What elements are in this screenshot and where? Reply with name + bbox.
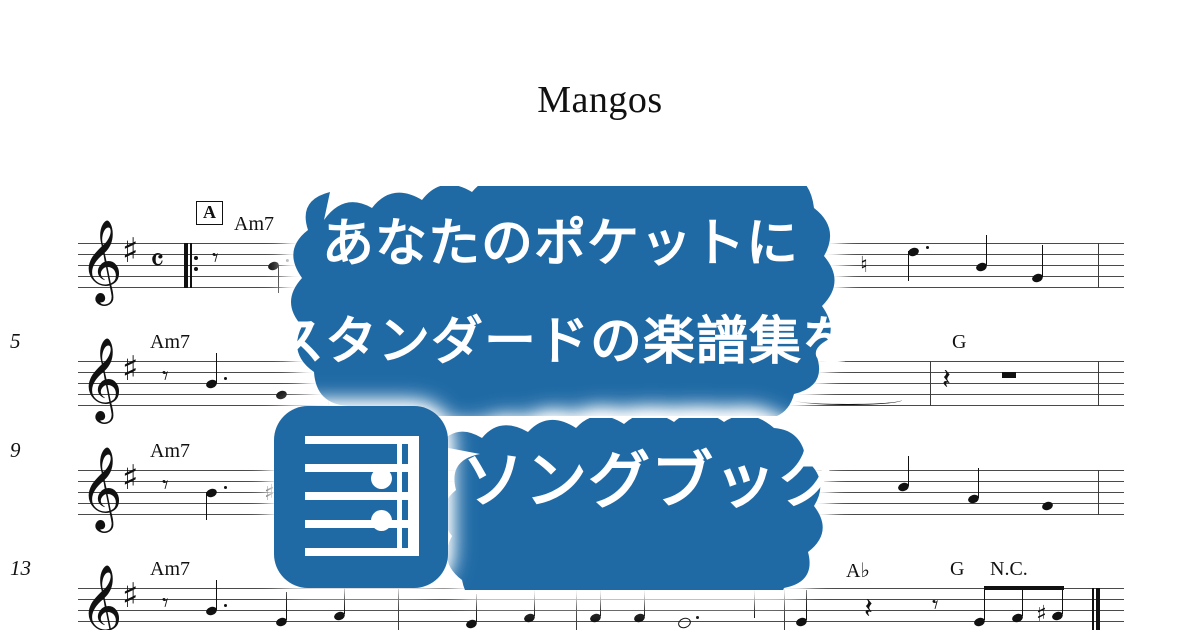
staff-line	[78, 514, 1124, 515]
tie-slur	[682, 626, 788, 630]
note-head	[589, 383, 602, 394]
treble-clef-icon: 𝄞	[80, 569, 123, 630]
barline	[748, 243, 749, 288]
augmentation-dot	[224, 486, 227, 489]
staff-system-1: 𝄞 ♯ 𝄴 A Am7 D7 G 𝄾 ♮	[78, 243, 1124, 289]
note-stem	[908, 456, 909, 486]
whole-rest	[1002, 372, 1016, 378]
chord-symbol: D9	[510, 558, 534, 581]
chord-symbol: Am7	[150, 440, 190, 463]
sheet-music-background: Mangos 𝄞 ♯ 𝄴 A Am7 D7 G 𝄾	[0, 0, 1200, 630]
key-signature-sharp-icon: ♯	[122, 579, 138, 613]
barline	[1098, 243, 1099, 288]
staff-line	[78, 503, 1124, 504]
note-stem	[286, 592, 287, 620]
treble-clef-icon: 𝄞	[80, 224, 123, 296]
song-title: Mangos	[0, 78, 1200, 122]
barline	[576, 588, 577, 630]
note-stem	[978, 468, 979, 498]
augmentation-dot	[696, 616, 699, 619]
time-signature-common-icon: 𝄴	[150, 244, 164, 276]
treble-clef-icon: 𝄞	[80, 451, 123, 523]
quarter-rest: 𝄽	[864, 594, 873, 623]
staff-line	[78, 470, 1124, 471]
barline	[1098, 470, 1099, 515]
eighth-rest: 𝄾	[162, 472, 169, 497]
staff-line	[78, 372, 1124, 373]
note-stem	[1022, 586, 1023, 616]
note-stem	[216, 353, 217, 383]
barline	[930, 361, 931, 406]
quarter-rest: 𝄽	[942, 365, 951, 394]
sharp-accidental: ♯	[264, 483, 275, 505]
staff-system-4: 13 𝄞 ♯ Am7 D9 G A♭ G N.C. 𝄾	[78, 588, 1124, 630]
staff-line	[78, 254, 1124, 255]
chord-symbol: G	[644, 440, 658, 463]
note-stem	[216, 580, 217, 610]
chord-symbol: G	[952, 331, 966, 354]
note-stem	[344, 586, 345, 614]
treble-clef-icon: 𝄞	[80, 342, 123, 414]
staff-system-2: 5 𝄞 ♯ Am7 G 𝄾 𝄽	[78, 361, 1124, 407]
staff-line	[78, 276, 1124, 277]
barline	[398, 588, 399, 630]
note-stem	[534, 588, 535, 616]
note-stem	[984, 586, 985, 620]
note-stem	[278, 265, 279, 293]
chord-symbol: N.C.	[990, 558, 1028, 581]
sharp-accidental: ♯	[1036, 604, 1047, 626]
barline	[744, 361, 745, 406]
staff-line	[78, 383, 1124, 384]
note-stem	[1062, 586, 1063, 614]
note-head	[281, 492, 294, 503]
barline	[538, 361, 539, 406]
note-stem	[476, 594, 477, 622]
repeat-start-barline	[184, 243, 196, 288]
note-stem	[1042, 245, 1043, 277]
eighth-rest: 𝄾	[162, 590, 169, 615]
measure-number: 13	[10, 556, 31, 581]
staff-line	[78, 394, 1124, 395]
chord-symbol: A♭	[846, 558, 870, 583]
key-signature-sharp-icon: ♯	[122, 352, 138, 386]
promo-banner: Mangos 𝄞 ♯ 𝄴 A Am7 D7 G 𝄾	[0, 0, 1200, 630]
note-beam	[984, 586, 1064, 590]
eighth-rest: 𝄾	[212, 245, 219, 270]
note-stem	[806, 590, 807, 620]
rehearsal-mark-a: A	[196, 201, 223, 225]
eighth-rest: 𝄾	[162, 363, 169, 388]
natural-accidental: ♮	[860, 255, 868, 277]
staff-system-3: 9 𝄞 ♯ Am7 G 𝄾 ♯	[78, 470, 1124, 516]
note-stem	[644, 584, 645, 616]
measure-number: 5	[10, 329, 21, 354]
augmentation-dot	[926, 246, 929, 249]
chord-symbol: G	[640, 558, 654, 581]
measure-number: 9	[10, 438, 21, 463]
barline	[326, 243, 327, 288]
tie-slur	[794, 395, 902, 405]
note-stem	[206, 492, 207, 520]
chord-symbol: Am7	[150, 331, 190, 354]
chord-symbol: Am7	[150, 558, 190, 581]
chord-symbol: G	[950, 558, 964, 581]
augmentation-dot	[224, 604, 227, 607]
staff-line	[78, 481, 1124, 482]
staff-line	[78, 361, 1124, 362]
staff-line	[78, 265, 1124, 266]
augmentation-dot	[286, 259, 289, 262]
staff-line	[78, 287, 1124, 288]
barline	[328, 361, 329, 406]
augmentation-dot	[224, 377, 227, 380]
chord-symbol: G	[698, 213, 712, 236]
chord-symbol: D7	[488, 213, 512, 236]
note-stem	[908, 251, 909, 281]
final-barline	[1092, 588, 1099, 630]
note-stem	[384, 359, 385, 387]
staff-line	[78, 492, 1124, 493]
key-signature-sharp-icon: ♯	[122, 234, 138, 268]
eighth-rest: 𝄾	[932, 592, 939, 617]
key-signature-sharp-icon: ♯	[122, 461, 138, 495]
note-stem	[600, 584, 601, 616]
barline	[744, 470, 745, 515]
staff-line	[78, 405, 1124, 406]
staff-line	[78, 243, 1124, 244]
barline	[784, 588, 785, 630]
note-stem	[754, 582, 755, 618]
chord-symbol: Am7	[234, 213, 274, 236]
barline	[1098, 361, 1099, 406]
note-stem	[986, 235, 987, 265]
note-beam	[600, 584, 645, 588]
note-head	[275, 389, 288, 400]
staff-line	[78, 621, 1124, 622]
barline	[538, 243, 539, 288]
barline	[330, 470, 331, 515]
barline	[538, 470, 539, 515]
